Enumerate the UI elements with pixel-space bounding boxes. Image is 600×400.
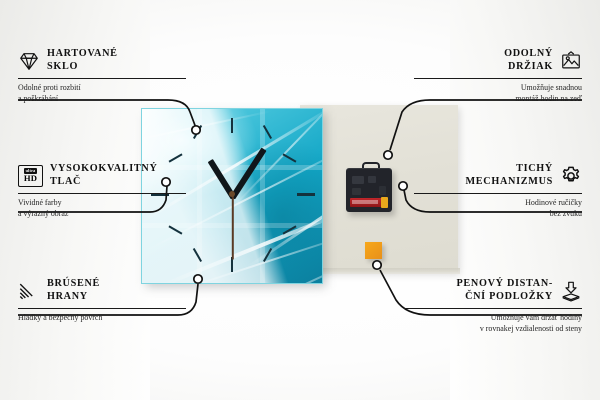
gear-icon: [560, 165, 582, 187]
feature-title: ODOLNÝ DRŽIAK: [504, 48, 553, 73]
feature-divider: [414, 193, 582, 194]
connector-drziak: [390, 100, 582, 150]
feature-description: Umožňuje vám držať hodiny v rovnakej vzd…: [404, 313, 582, 334]
feature-head: PENOVÝ DISTAN- ČNÍ PODLOŽKY: [404, 278, 582, 303]
feature-description: Hodinové ručičky bez zvuku: [414, 198, 582, 219]
feature-sanded-edges: BRÚSENÉ HRANY Hladký a bezpečný povrch: [18, 278, 186, 324]
sanded-edges-icon: [18, 280, 40, 302]
feature-description: Hladký a bezpečný povrch: [18, 313, 186, 323]
infographic-canvas: HARTOVANÉ SKLO Odolné proti rozbití a po…: [0, 0, 600, 400]
connector-dot-drziak: [384, 151, 392, 159]
feature-title: PENOVÝ DISTAN- ČNÍ PODLOŽKY: [457, 278, 554, 303]
connector-dot-sklo: [192, 126, 200, 134]
ultra-hd-icon: ultra HD: [18, 165, 43, 187]
connector-sklo: [18, 100, 196, 128]
feature-silent-mechanism: TICHÝ MECHANIZMUS Hodinové ručičky bez z…: [414, 163, 582, 219]
picture-hanger-icon: [560, 50, 582, 72]
feature-description: Vividné farby a výrazný obraz: [18, 198, 186, 219]
feature-head: ODOLNÝ DRŽIAK: [414, 48, 582, 73]
feature-head: TICHÝ MECHANIZMUS: [414, 163, 582, 188]
connector-dot-hrany: [194, 275, 202, 283]
diamond-icon: [18, 50, 40, 72]
feature-description: Odolné proti rozbití a poškrábání: [18, 83, 186, 104]
feature-divider: [404, 308, 582, 309]
feature-title: VYSOKOKVALITNÝ TLAČ: [50, 163, 158, 188]
foam-spacer-icon: [560, 280, 582, 302]
feature-title: TICHÝ MECHANIZMUS: [465, 163, 553, 188]
feature-title: BRÚSENÉ HRANY: [47, 278, 100, 303]
feature-tempered-glass: HARTOVANÉ SKLO Odolné proti rozbití a po…: [18, 48, 186, 104]
feature-description: Umožňuje snadnou montáž hodin na zeď: [414, 83, 582, 104]
ultra-hd-large-label: HD: [24, 174, 37, 183]
connector-dot-podlozky: [373, 261, 381, 269]
feature-divider: [18, 308, 186, 309]
feature-divider: [414, 78, 582, 79]
feature-head: HARTOVANÉ SKLO: [18, 48, 186, 73]
feature-foam-spacers: PENOVÝ DISTAN- ČNÍ PODLOŽKY Umožňuje vám…: [404, 278, 582, 334]
feature-title: HARTOVANÉ SKLO: [47, 48, 118, 73]
feature-divider: [18, 193, 186, 194]
feature-durable-hanger: ODOLNÝ DRŽIAK Umožňuje snadnou montáž ho…: [414, 48, 582, 104]
feature-head: BRÚSENÉ HRANY: [18, 278, 186, 303]
feature-hq-print: ultra HD VYSOKOKVALITNÝ TLAČ Vividné far…: [18, 163, 186, 219]
feature-head: ultra HD VYSOKOKVALITNÝ TLAČ: [18, 163, 186, 188]
connector-dot-mechanizmus: [399, 182, 407, 190]
feature-divider: [18, 78, 186, 79]
